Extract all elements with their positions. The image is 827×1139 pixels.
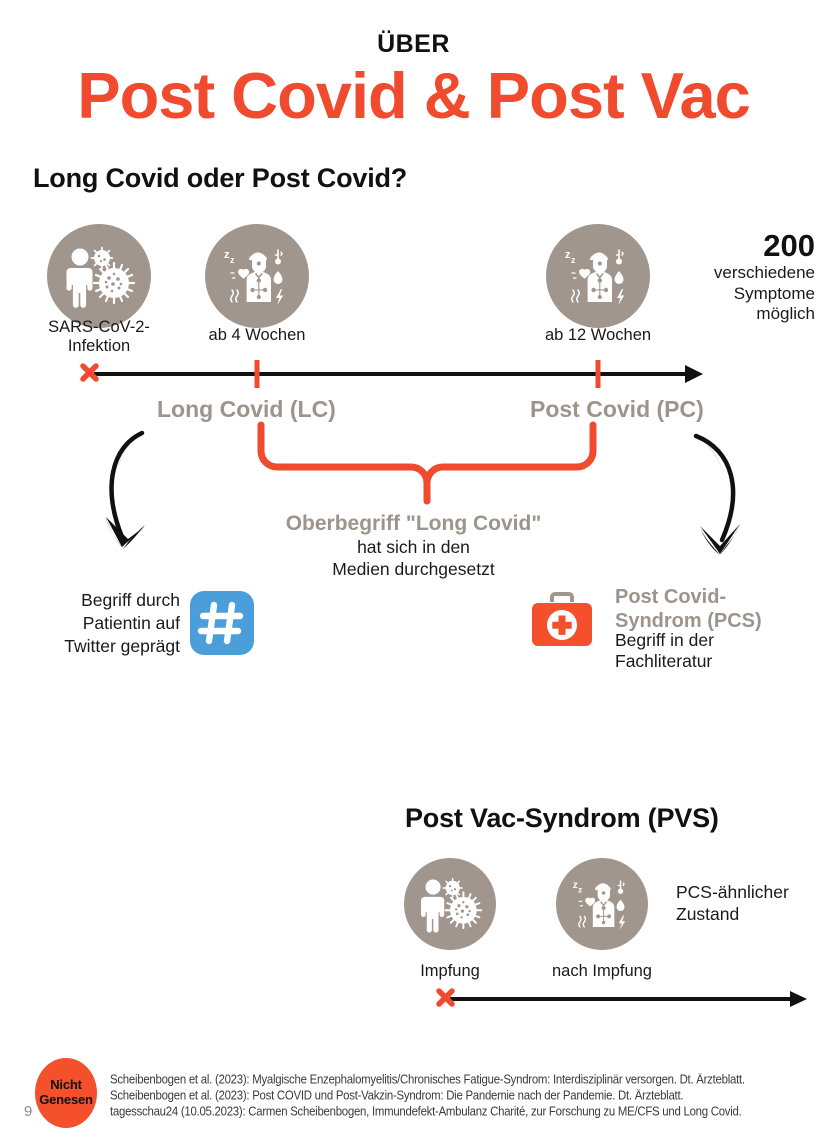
milestone-caption: ab 4 Wochen xyxy=(177,326,337,345)
twitter-note-line: Twitter geprägt xyxy=(20,635,180,658)
header-kicker: ÜBER xyxy=(0,30,827,59)
milestone-caption-line: SARS-CoV-2- xyxy=(14,318,184,337)
twitter-note-line: Begriff durch xyxy=(20,589,180,612)
twitter-note-line: Patientin auf xyxy=(20,612,180,635)
symptom-count-label-line: verschiedene xyxy=(640,263,815,284)
first-aid-kit-icon xyxy=(527,588,599,654)
curved-arrow-right xyxy=(688,428,808,578)
hashtag-icon xyxy=(190,591,254,655)
covid-timeline xyxy=(60,352,720,392)
infographic-page: ÜBER Post Covid & Post Vac Long Covid od… xyxy=(0,0,827,1139)
svg-text:z: z xyxy=(573,880,578,891)
pcs-note-body-line: Begriff in der xyxy=(615,630,825,651)
timeline-phase-long-covid: Long Covid (LC) xyxy=(157,396,336,423)
pcs-note-body-line: Fachliteratur xyxy=(615,651,825,672)
nicht-genesen-logo: Nicht Genesen xyxy=(35,1058,97,1128)
pvs-side-note-line: PCS-ähnlicher xyxy=(676,882,826,904)
symptom-count-label-line: Symptome xyxy=(640,284,815,305)
svg-text:z: z xyxy=(571,255,576,265)
svg-text:z: z xyxy=(230,255,235,265)
symptom-count-label-line: möglich xyxy=(640,304,815,325)
reference-list: Scheibenbogen et al. (2023): Myalgische … xyxy=(110,1071,820,1120)
pcs-note-body: Begriff in der Fachliteratur xyxy=(615,630,825,673)
symptom-count-label: verschiedene Symptome möglich xyxy=(640,263,815,325)
section-covid-title: Long Covid oder Post Covid? xyxy=(33,163,407,194)
reference-item: tagesschau24 (10.05.2023): Carmen Scheib… xyxy=(110,1103,820,1121)
person-with-virus-icon xyxy=(47,224,151,328)
curved-arrow-left xyxy=(100,425,220,575)
pcs-note-title: Post Covid- Syndrom (PCS) xyxy=(615,586,825,633)
svg-text:z: z xyxy=(578,886,582,895)
page-title: Post Covid & Post Vac xyxy=(0,62,827,130)
twitter-note: Begriff durch Patientin auf Twitter gepr… xyxy=(20,589,180,657)
person-with-symptoms-icon: z z xyxy=(546,224,650,328)
symptom-count: 200 xyxy=(660,230,815,261)
person-with-virus-icon xyxy=(404,858,496,950)
person-with-symptoms-icon: z z xyxy=(556,858,648,950)
milestone-caption: ab 12 Wochen xyxy=(518,326,678,345)
logo-line: Genesen xyxy=(39,1093,93,1108)
pvs-side-note-line: Zustand xyxy=(676,904,826,926)
page-number: 9 xyxy=(24,1103,32,1120)
logo-line: Nicht xyxy=(50,1078,82,1093)
long-covid-brace xyxy=(255,425,615,505)
pvs-side-note: PCS-ähnlicher Zustand xyxy=(676,882,826,926)
section-vac-title: Post Vac-Syndrom (PVS) xyxy=(405,803,719,834)
timeline-phase-post-covid: Post Covid (PC) xyxy=(530,396,704,423)
vac-timeline xyxy=(420,978,820,1018)
pcs-note-title-line: Post Covid- xyxy=(615,586,825,610)
person-with-symptoms-icon: z z xyxy=(205,224,309,328)
